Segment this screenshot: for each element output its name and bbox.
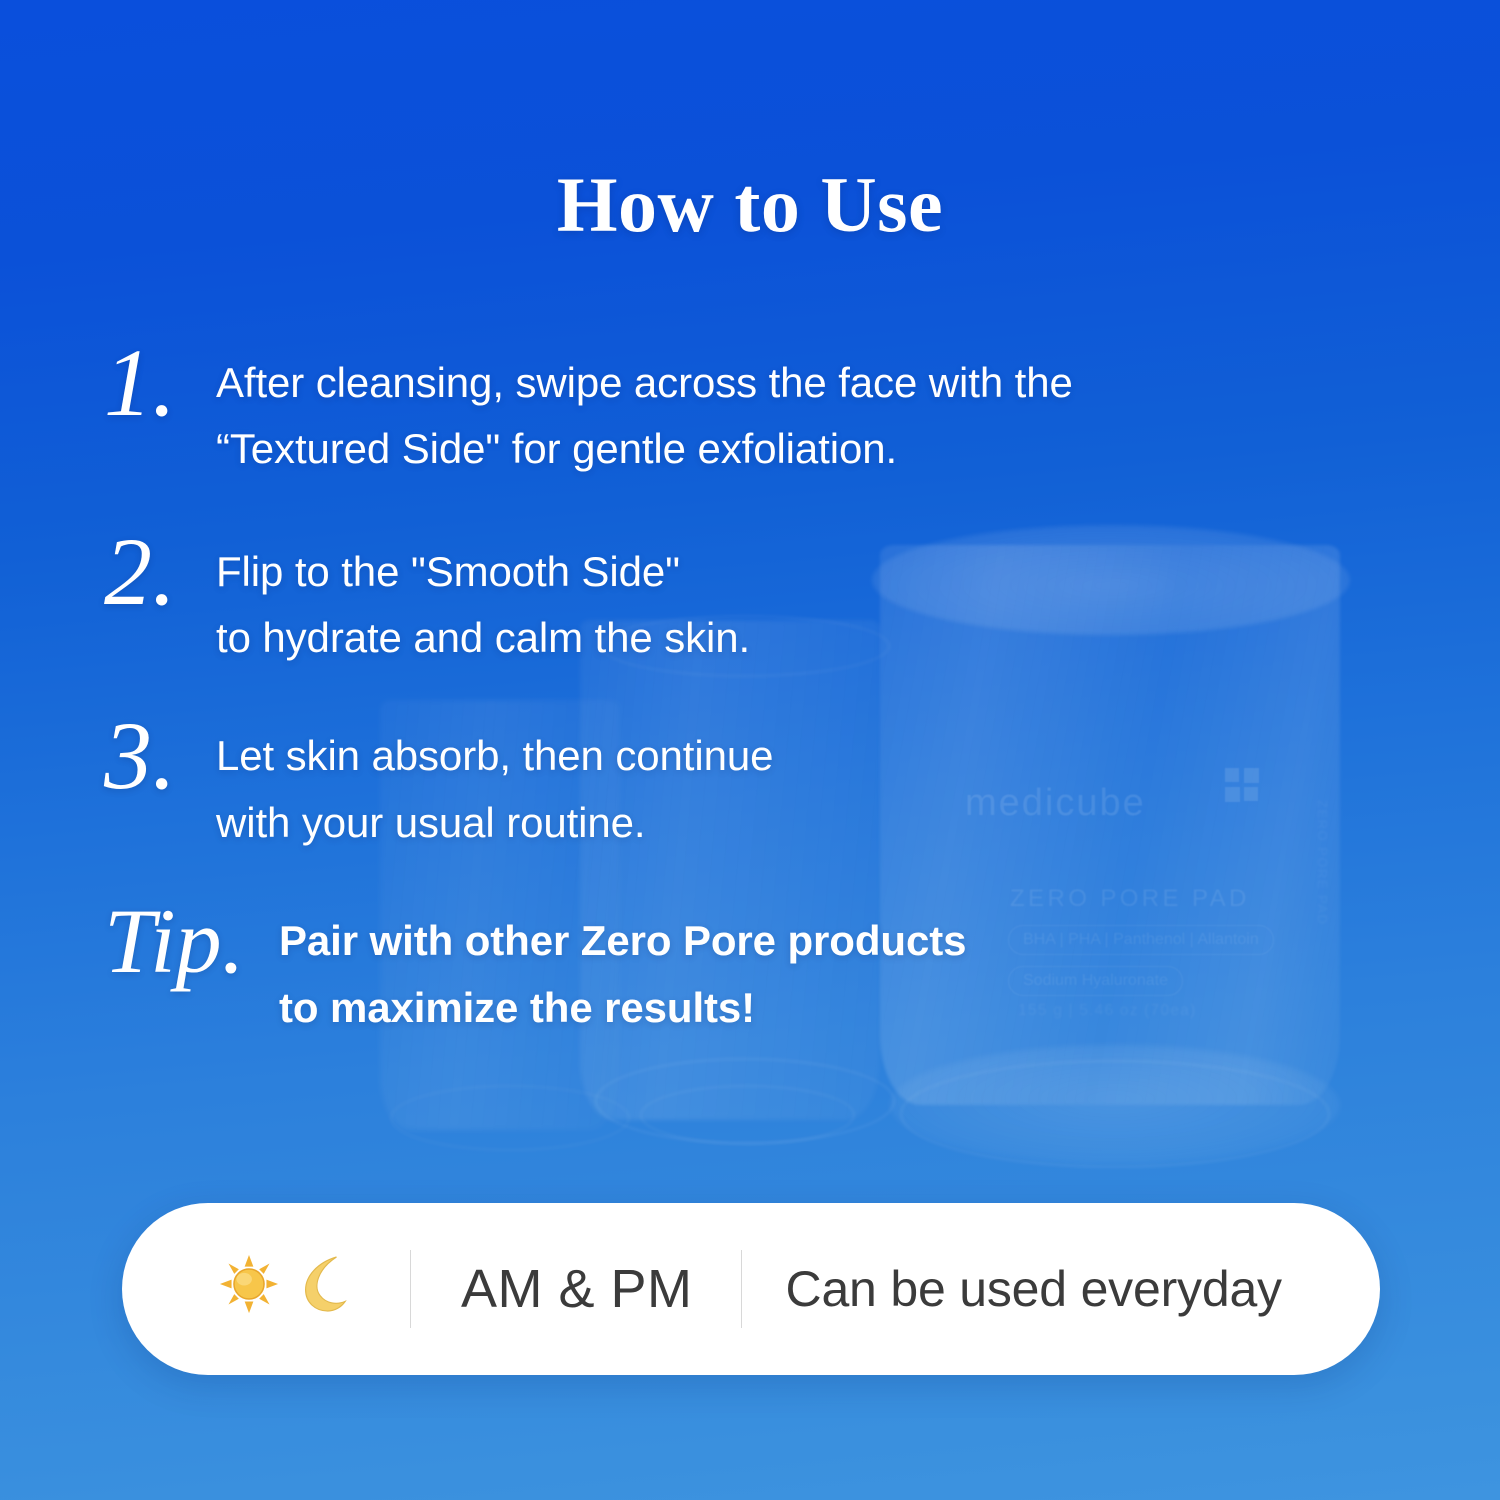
- step-line-2b: to hydrate and calm the skin.: [216, 605, 750, 671]
- tip-line-1: Pair with other Zero Pore products: [279, 908, 966, 974]
- step-item-2: 2. Flip to the "Smooth Side" to hydrate …: [104, 531, 1500, 672]
- step-text-1: After cleansing, swipe across the face w…: [216, 342, 1073, 483]
- poster-content: How to Use 1. After cleansing, swipe acr…: [0, 160, 1500, 1041]
- step-line-2a: Flip to the "Smooth Side": [216, 539, 750, 605]
- step-text-3: Let skin absorb, then continue with your…: [216, 715, 773, 856]
- crescent-moon-icon: [294, 1253, 350, 1325]
- step-item-1: 1. After cleansing, swipe across the fac…: [104, 342, 1500, 483]
- banner-divider-1: [410, 1250, 411, 1328]
- background-jar-base: [890, 1045, 1340, 1165]
- step-line-3b: with your usual routine.: [216, 790, 773, 856]
- usage-icons: [218, 1253, 350, 1325]
- tip-marker: Tip.: [104, 896, 279, 986]
- jar-base-ring-left: [595, 1058, 895, 1144]
- jar-base-ring-inner-left: [640, 1085, 855, 1145]
- usage-banner: AM & PM Can be used everyday: [122, 1203, 1380, 1375]
- steps-list: 1. After cleansing, swipe across the fac…: [0, 342, 1500, 1041]
- usage-time-of-day: AM & PM: [461, 1258, 693, 1320]
- page-title: How to Use: [0, 160, 1500, 250]
- how-to-use-poster: medicube ZERO PORE PAD BHA | PHA | Panth…: [0, 0, 1500, 1500]
- step-line-1b: “Textured Side" for gentle exfoliation.: [216, 416, 1073, 482]
- step-marker-1: 1.: [104, 336, 216, 430]
- step-item-3: 3. Let skin absorb, then continue with y…: [104, 715, 1500, 856]
- tip-line-2: to maximize the results!: [279, 975, 966, 1041]
- banner-divider-2: [741, 1250, 742, 1328]
- tip-text: Pair with other Zero Pore products to ma…: [279, 900, 966, 1041]
- jar-base-ring-far-left: [390, 1085, 630, 1151]
- step-line-1a: After cleansing, swipe across the face w…: [216, 350, 1073, 416]
- step-line-3a: Let skin absorb, then continue: [216, 723, 773, 789]
- tip-item: Tip. Pair with other Zero Pore products …: [104, 900, 1500, 1041]
- step-marker-2: 2.: [104, 525, 216, 619]
- jar-base-ring-main: [900, 1060, 1330, 1168]
- step-marker-3: 3.: [104, 709, 216, 803]
- step-text-2: Flip to the "Smooth Side" to hydrate and…: [216, 531, 750, 672]
- usage-frequency: Can be used everyday: [786, 1260, 1282, 1318]
- sun-icon: [218, 1253, 280, 1325]
